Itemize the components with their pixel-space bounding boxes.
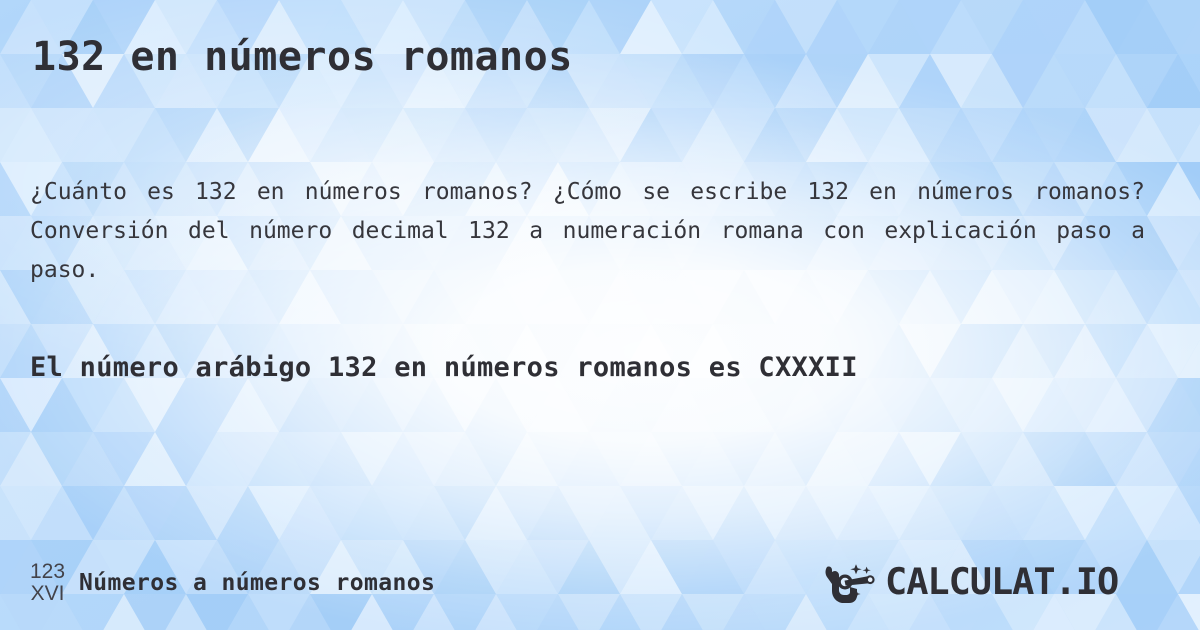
answer-statement: El número arábigo 132 en números romanos… [30,345,1105,390]
arabic-to-roman-badge-icon: 123 XVI [30,561,65,604]
calculatio-wordmark-text: CALCULAT.IO [885,563,1118,603]
og-image-canvas: 132 en números romanos ¿Cuánto es 132 en… [0,0,1200,630]
calculatio-wordmark: CALCULAT.IO [885,563,1172,603]
footer-converter-name: Números a números romanos [79,570,435,596]
page-title: 132 en números romanos [32,31,573,83]
magic-wand-hand-icon [823,561,879,605]
footer-brand[interactable]: 123 XVI Números a números romanos [30,561,435,604]
badge-arabic-label: 123 [30,561,65,582]
intro-paragraph: ¿Cuánto es 132 en números romanos? ¿Cómo… [30,173,1145,290]
calculatio-logo[interactable]: CALCULAT.IO [823,561,1172,605]
badge-roman-label: XVI [31,583,65,604]
content-area: 132 en números romanos ¿Cuánto es 132 en… [0,0,1200,630]
footer: 123 XVI Números a números romanos [0,540,1200,630]
